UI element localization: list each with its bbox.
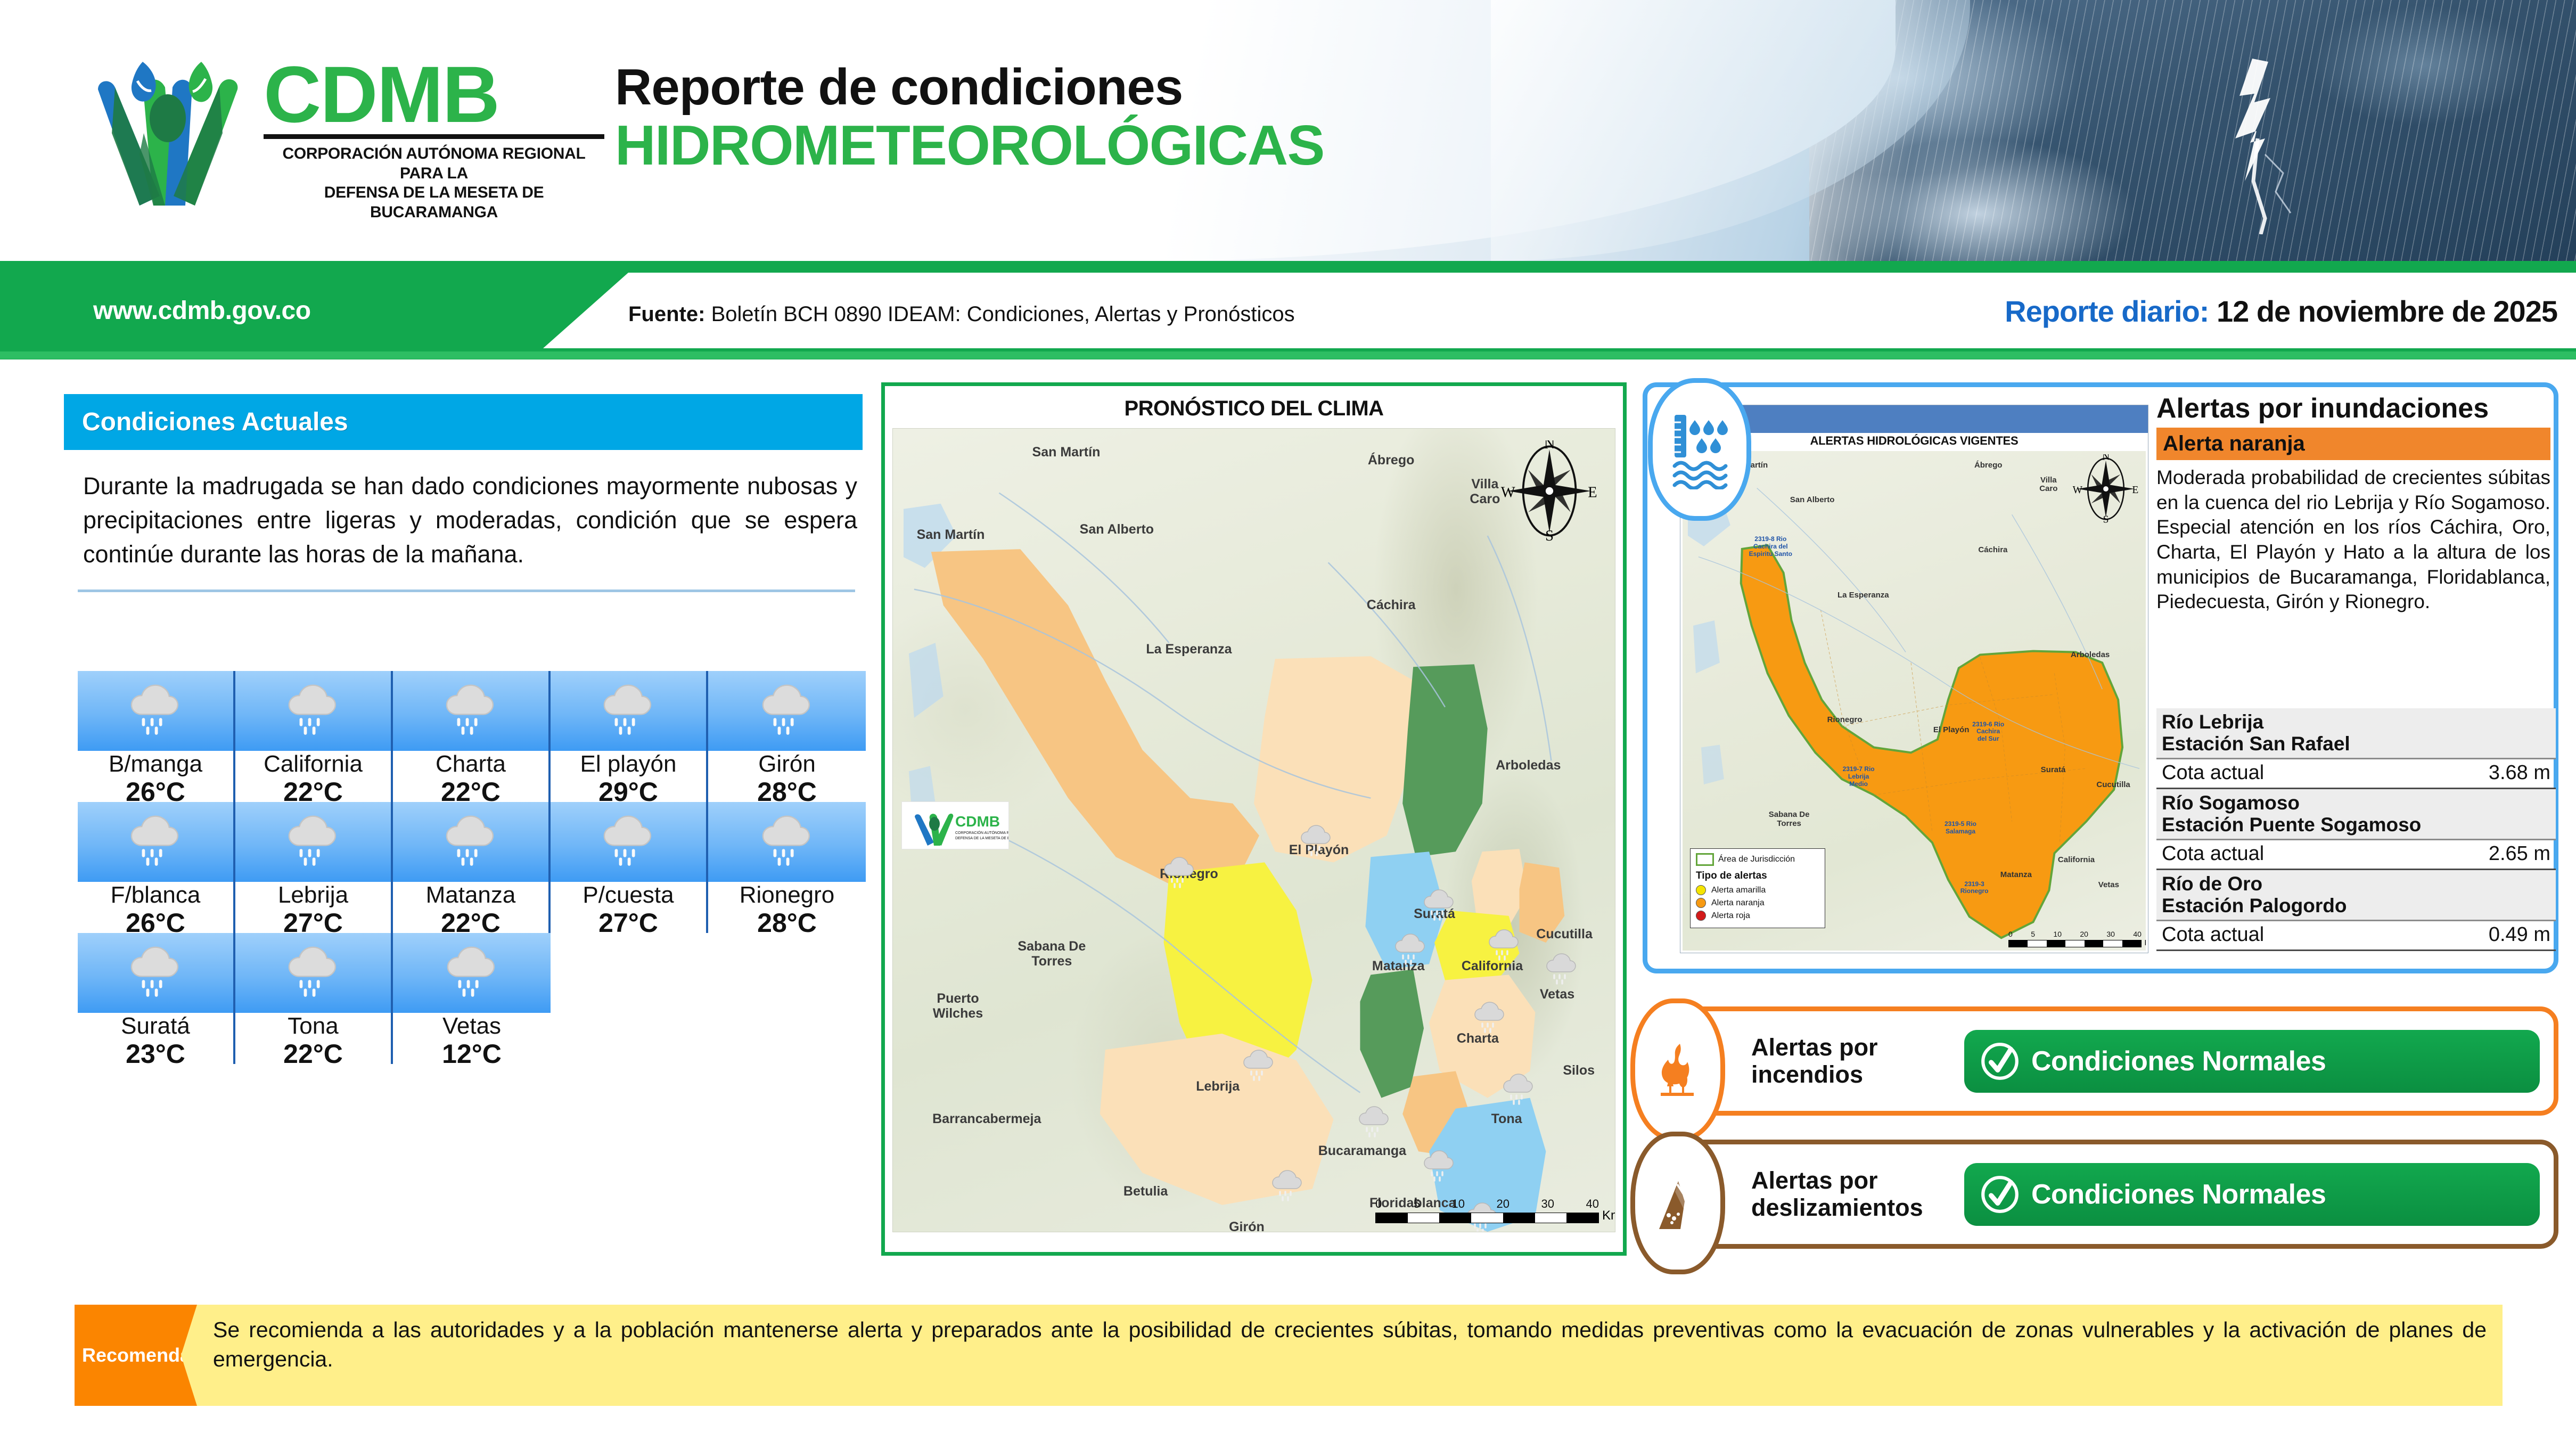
current-conditions-heading: Condiciones Actuales [64,407,348,437]
weather-icon-tile [78,933,235,1013]
current-conditions-text: Durante la madrugada se han dado condici… [64,450,879,571]
weather-icon-tile [235,671,393,751]
check-circle-icon [1978,1039,2022,1083]
legend-jurisdiction-label: Área de Jurisdicción [1718,855,1795,864]
river-level-row: Cota actual3.68 m [2156,759,2556,789]
flood-alert-title: Alertas por inundaciones [2156,394,2550,423]
temperature-cell[interactable]: California22°C [235,671,393,802]
municipality-name: El playón [580,752,676,776]
report-date: 12 de noviembre de 2025 [2217,294,2557,328]
logo-subtitle: CORPORACIÓN AUTÓNOMA REGIONAL PARA LA DE… [264,144,604,222]
municipality-name: Rionegro [740,883,835,907]
recommendations-text: Se recomienda a las autoridades y a la p… [213,1315,2487,1374]
map-rain-icon [1420,887,1458,925]
municipality-name: Tona [288,1014,338,1038]
legend-label: Alerta roja [1711,911,1750,921]
metric-value: 0.49 m [2489,923,2550,946]
flood-alert-text-block: Alertas por inundaciones Alerta naranja … [2156,394,2550,615]
temperature-value: 27°C [598,908,658,938]
svg-text:N: N [1544,440,1555,452]
municipality-name: Matanza [426,883,516,907]
map-rain-icon [1297,822,1335,861]
lightning-icon [2219,59,2299,234]
landslide-alert-box[interactable]: Alertas por deslizamientos Condiciones N… [1653,1140,2558,1249]
svg-text:N: N [2102,454,2110,462]
river-station-header: Río SogamosoEstación Puente Sogamoso [2156,789,2556,840]
municipality-name: Suratá [121,1014,190,1038]
scale-tick: 10 [2053,930,2062,938]
river-levels-table: Río LebrijaEstación San RafaelCota actua… [2156,708,2556,951]
map-rain-icon [1543,951,1581,989]
legend-item: Alerta amarilla [1696,885,1819,895]
metric-value: 2.65 m [2489,842,2550,865]
scale-tick: 20 [1496,1197,1509,1211]
website-link[interactable]: www.cdmb.gov.co [93,296,311,325]
report-date-line: Reporte diario: 12 de noviembre de 2025 [2005,294,2557,329]
page-header: CDMB CORPORACIÓN AUTÓNOMA REGIONAL PARA … [0,0,2576,261]
station-name: Estación Puente Sogamoso [2162,814,2550,836]
svg-text:W: W [2073,485,2083,496]
climate-forecast-panel: PRONÓSTICO DEL CLIMA [881,382,1627,1256]
temperature-row: B/manga26°CCalifornia22°CCharta22°CEl pl… [78,671,866,802]
river-station-header: Río LebrijaEstación San Rafael [2156,708,2556,759]
weather-icon-tile [708,671,866,751]
temperature-value: 22°C [283,1039,343,1069]
fire-icon-holder [1630,998,1725,1141]
source-detail: Boletín BCH 0890 IDEAM: Condiciones, Ale… [711,302,1295,326]
municipality-name: F/blanca [111,883,201,907]
jurisdiction-swatch [1696,853,1714,866]
hydro-map-legend: Área de Jurisdicción Tipo de alertas Ale… [1690,848,1825,928]
weather-icon-tile [235,933,393,1013]
legend-label: Alerta amarilla [1711,886,1766,895]
temperature-cell[interactable]: Suratá23°C [78,933,235,1064]
green-underline [0,351,2576,359]
river-station-header: Río de OroEstación Palogordo [2156,870,2556,921]
check-circle-icon [1978,1173,2022,1216]
weather-icon-tile [393,671,551,751]
station-name: Estación San Rafael [2162,733,2550,755]
map-rain-icon [1471,999,1509,1037]
current-conditions-header: Condiciones Actuales [64,394,863,450]
weather-icon-tile [393,802,551,882]
municipality-name: California [264,752,363,776]
temperature-cell[interactable]: Vetas12°C [393,933,551,1064]
map-cdmb-watermark: CDMB CORPORACIÓN AUTÓNOMA REGIONAL PARA … [901,801,1009,849]
temperature-value: 28°C [757,908,817,938]
metric-label: Cota actual [2162,923,2264,946]
map-scale-bar: 0510203040 Km [1375,1197,1599,1223]
river-name: Río Sogamoso [2162,792,2550,814]
compass-rose-icon: N S W E [2071,454,2140,523]
water-level-badge [1648,378,1751,521]
map-rain-icon [1240,1047,1278,1085]
svg-text:CORPORACIÓN AUTÓNOMA REGIONAL: CORPORACIÓN AUTÓNOMA REGIONAL PARA LA [955,830,1008,835]
hydro-map-canvas: N S W E San Martín San Alberto Ábrego Vi… [1683,451,2146,951]
landslide-alert-status-pill: Condiciones Normales [1964,1163,2540,1226]
municipality-name: Girón [758,752,816,776]
river-level-row: Cota actual0.49 m [2156,921,2556,951]
river-level-row: Cota actual2.65 m [2156,840,2556,870]
map-rain-icon [1160,854,1199,893]
fire-alert-box[interactable]: Alertas por incendios Condiciones Normal… [1653,1006,2558,1116]
svg-text:E: E [2132,485,2138,496]
current-conditions-panel: Condiciones Actuales Durante la madrugad… [64,394,879,1246]
weather-icon-tile [393,933,551,1013]
temperature-cell[interactable]: Girón28°C [708,671,866,802]
metric-value: 3.68 m [2489,762,2550,784]
temperature-cell[interactable]: B/manga26°C [78,671,235,802]
temperature-cell[interactable]: Tona22°C [235,933,393,1064]
fire-icon [1656,1041,1699,1099]
page-title: Reporte de condiciones HIDROMETEOROLÓGIC… [615,61,1680,174]
temperature-cell[interactable]: Matanza22°C [393,802,551,933]
fire-alert-status: Condiciones Normales [2031,1045,2326,1077]
station-name: Estación Palogordo [2162,895,2550,916]
temperature-cell[interactable]: F/blanca26°C [78,802,235,933]
legend-item: Alerta naranja [1696,898,1819,908]
flood-alert-level: Alerta naranja [2156,428,2550,460]
weather-icon-tile [551,802,708,882]
temperature-row: Suratá23°CTona22°CVetas12°C [78,933,866,1064]
climate-map[interactable]: N S W E San Martín San Martín San Albert… [892,428,1615,1232]
temperature-grid: B/manga26°CCalifornia22°CCharta22°CEl pl… [78,671,866,1064]
temperature-cell[interactable]: Charta22°C [393,671,551,802]
svg-text:CDMB: CDMB [955,813,1000,830]
weather-icon-tile [551,671,708,751]
hydro-alert-map[interactable]: ALERTAS HIDROLÓGICAS VIGENTES [1680,405,2148,953]
scale-tick: 0 [1375,1197,1382,1211]
title-line-2: HIDROMETEOROLÓGICAS [615,117,1680,174]
fire-alert-label: Alertas por incendios [1751,1034,1959,1088]
recommendations-tab: Recomendaciones: [75,1305,197,1406]
title-line-1: Reporte de condiciones [615,61,1680,113]
weather-icon-tile [78,802,235,882]
svg-text:DEFENSA DE LA MESETA DE BUCARA: DEFENSA DE LA MESETA DE BUCARAMANGA [955,837,1008,840]
map-rain-icon [1268,1167,1307,1206]
landslide-icon [1654,1174,1702,1232]
fire-alert-status-pill: Condiciones Normales [1964,1030,2540,1093]
temperature-row: F/blanca26°CLebrija27°CMatanza22°CP/cues… [78,802,866,933]
compass-rose-icon: N S W E [1499,440,1600,542]
map-rain-icon [1391,931,1430,969]
metric-label: Cota actual [2162,762,2264,784]
municipality-name: B/manga [109,752,202,776]
weather-icon-tile [708,802,866,882]
legend-swatch [1696,885,1706,895]
svg-text:S: S [1545,528,1554,542]
scale-tick: 30 [1541,1197,1554,1211]
water-gauge-icon [1670,410,1729,489]
municipality-name: Vetas [442,1014,501,1038]
source-label: Fuente: [628,302,705,326]
scale-tick: 40 [1586,1197,1598,1211]
temperature-cell[interactable]: Rionegro28°C [708,802,866,933]
map-rain-icon [1420,1148,1458,1186]
river-name: Río Lebrija [2162,711,2550,733]
scale-tick: 30 [2106,930,2115,938]
municipality-name: Lebrija [278,883,348,907]
landslide-icon-holder [1630,1132,1725,1274]
svg-text:W: W [1501,484,1515,501]
scale-tick: 5 [2031,930,2035,938]
scale-tick: 20 [2080,930,2088,938]
landslide-alert-label: Alertas por deslizamientos [1751,1167,1959,1222]
flood-alert-description: Moderada probabilidad de crecientes súbi… [2156,465,2550,615]
scale-tick: 40 [2133,930,2142,938]
municipality-name: P/cuesta [583,883,674,907]
temperature-value: 12°C [442,1039,502,1069]
weather-icon-tile [78,671,235,751]
hydro-scale-unit: Km [2145,938,2146,947]
svg-text:S: S [2103,514,2109,523]
legend-swatch [1696,911,1706,921]
hydro-map-titlebar [1680,405,2148,433]
temperature-cell[interactable]: El playón29°C [551,671,708,802]
legend-item: Alerta roja [1696,911,1819,921]
municipality-name: Charta [436,752,506,776]
hydro-scale-bar: 0510203040 Km [2008,930,2142,947]
river-name: Río de Oro [2162,873,2550,895]
cdmb-logo-mark [80,48,256,208]
scale-tick: 10 [1452,1197,1465,1211]
scale-unit: Km [1602,1208,1615,1223]
map-rain-icon [1485,927,1523,965]
scale-tick: 0 [2008,930,2013,938]
metric-label: Cota actual [2162,842,2264,865]
source-text: Fuente: Boletín BCH 0890 IDEAM: Condicio… [628,302,1295,326]
logo-acronym: CDMB [264,58,604,131]
scale-tick: 5 [1414,1197,1420,1211]
temperature-cell[interactable]: P/cuesta27°C [551,802,708,933]
weather-icon-tile [235,802,393,882]
climate-map-title: PRONÓSTICO DEL CLIMA [885,386,1623,428]
temperature-cell[interactable]: Lebrija27°C [235,802,393,933]
legend-swatch [1696,898,1706,908]
temperature-value: 23°C [126,1039,185,1069]
legend-label: Alerta naranja [1711,898,1765,908]
landslide-alert-status: Condiciones Normales [2031,1178,2326,1210]
legend-types-heading: Tipo de alertas [1696,870,1819,882]
cdmb-logo: CDMB CORPORACIÓN AUTÓNOMA REGIONAL PARA … [80,43,612,218]
map-rain-icon [1355,1103,1393,1142]
svg-text:E: E [1588,484,1597,501]
report-label: Reporte diario: [2005,294,2209,328]
panel-divider [78,590,855,592]
map-rain-icon [1499,1071,1538,1109]
